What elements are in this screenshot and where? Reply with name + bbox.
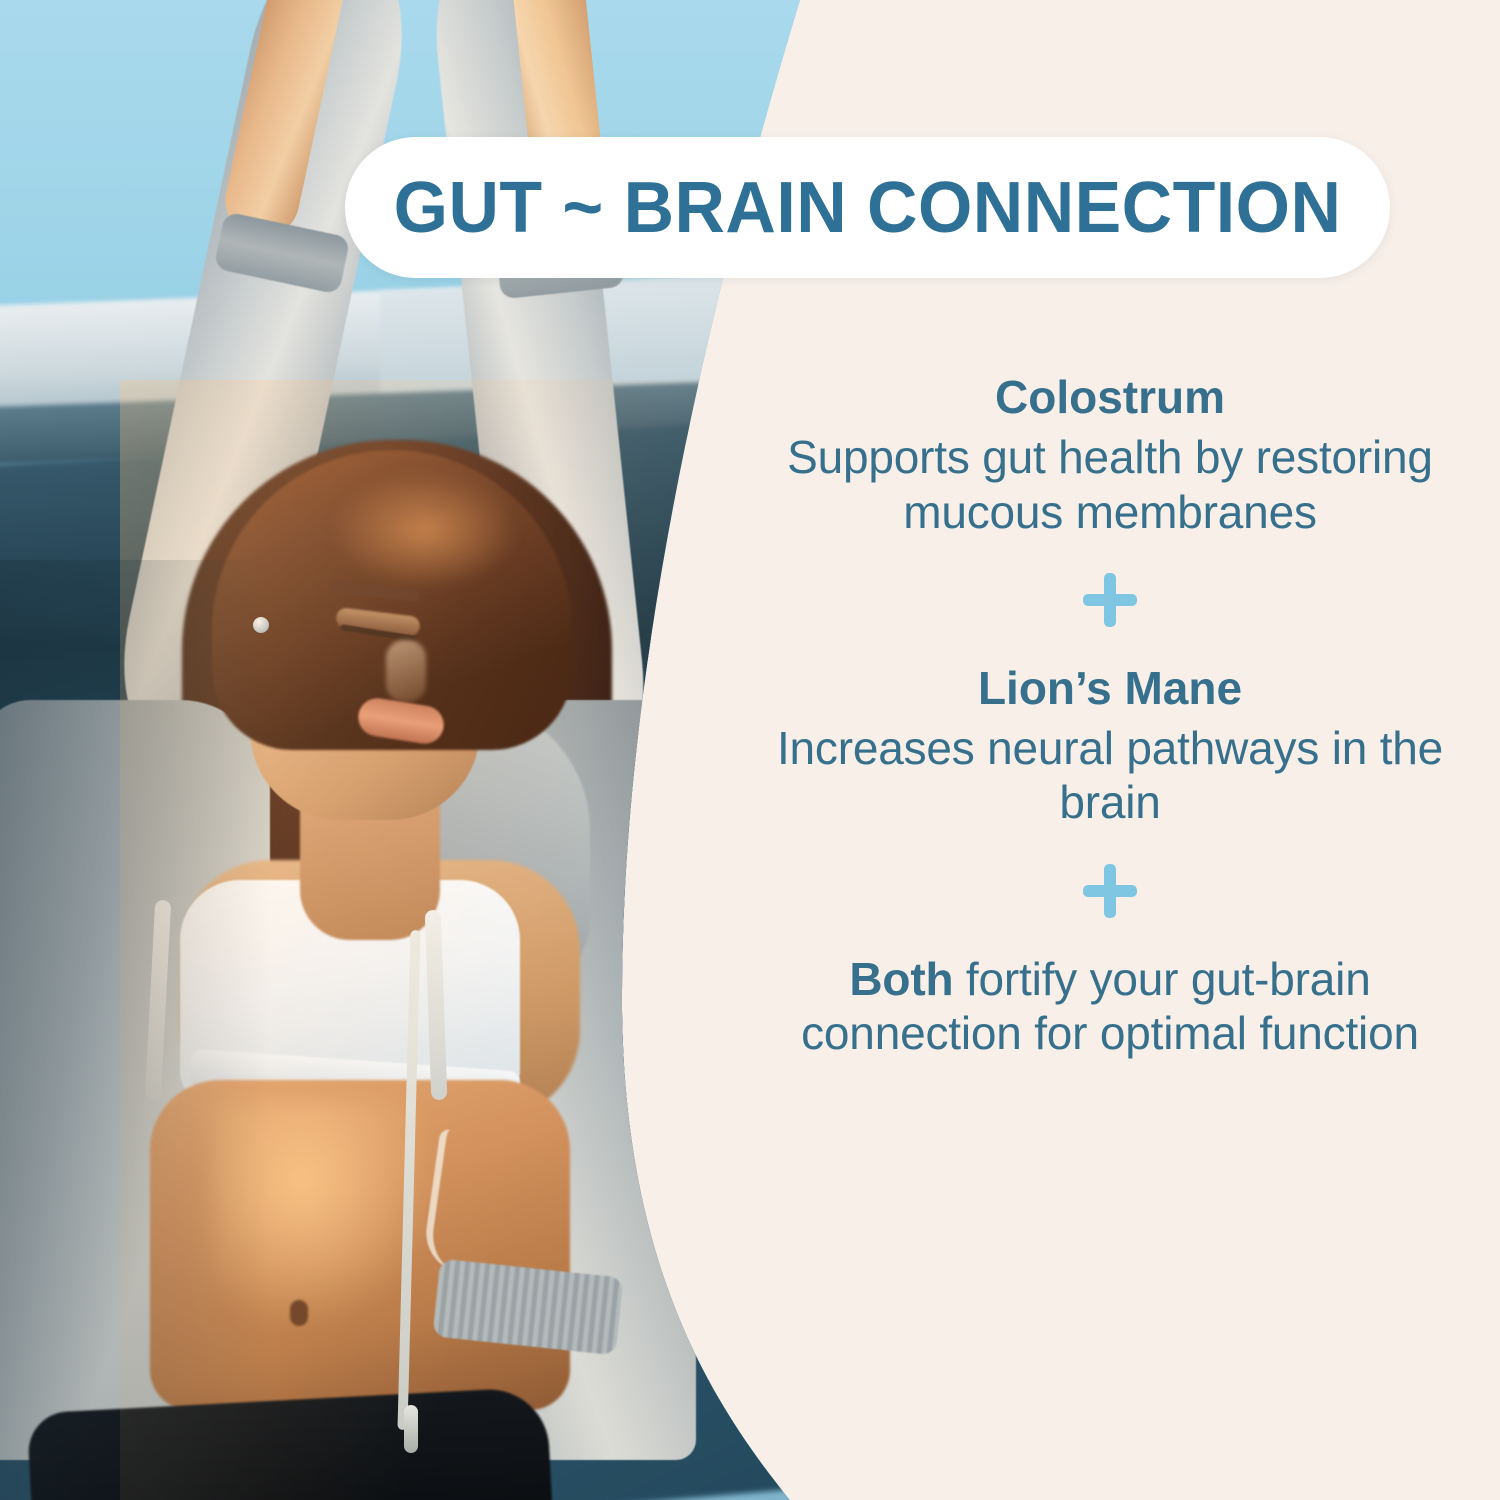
hoodie-zipper-pull [404,1405,418,1453]
conclusion-block: Both fortify your gut-brain connection f… [760,952,1460,1061]
conclusion-emphasis: Both [849,953,953,1005]
stud-earring [253,617,269,633]
benefits-copy: Colostrum Supports gut health by restori… [760,370,1460,1060]
title-pill: GUT ~ BRAIN CONNECTION [345,137,1390,278]
ingredient-heading-colostrum: Colostrum [760,370,1460,424]
nose [386,640,426,702]
ingredient-block-lions-mane: Lion’s Mane Increases neural pathways in… [760,661,1460,830]
hair-highlight [330,470,520,590]
conclusion-text: Both fortify your gut-brain connection f… [760,952,1460,1061]
ingredient-body-colostrum: Supports gut health by restoring mucous … [760,430,1460,539]
ingredient-heading-lions-mane: Lion’s Mane [760,661,1460,715]
infographic-canvas: GUT ~ BRAIN CONNECTION Colostrum Support… [0,0,1500,1500]
page-title: GUT ~ BRAIN CONNECTION [394,167,1342,249]
navel [290,1300,308,1326]
ingredient-body-lions-mane: Increases neural pathways in the brain [760,721,1460,830]
plus-icon [1083,864,1137,918]
plus-icon [1083,573,1137,627]
ingredient-block-colostrum: Colostrum Supports gut health by restori… [760,370,1460,539]
